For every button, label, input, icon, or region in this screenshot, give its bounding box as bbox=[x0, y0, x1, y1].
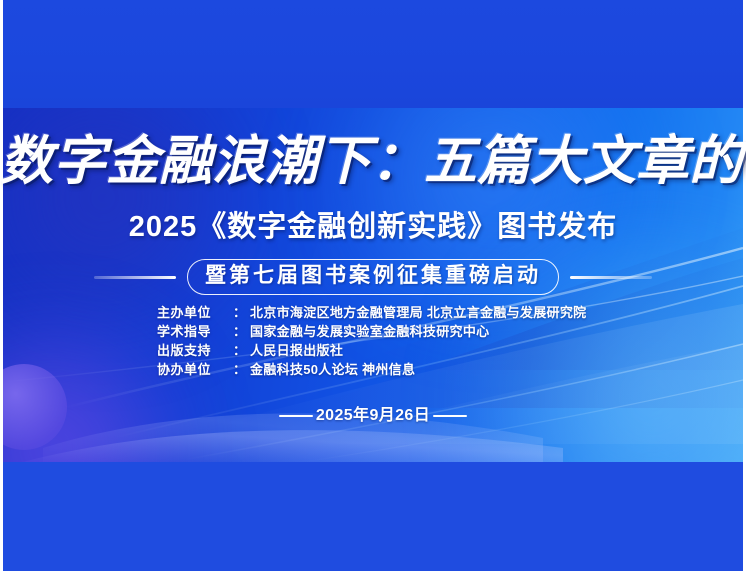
credit-colon: ： bbox=[233, 322, 246, 341]
credit-colon: ： bbox=[233, 303, 246, 322]
credit-row: 协办单位 ： 金融科技50人论坛 神州信息 bbox=[157, 360, 617, 379]
credit-row: 学术指导 ： 国家金融与发展实验室金融科技研究中心 bbox=[157, 322, 617, 341]
credit-label: 出版支持 bbox=[157, 341, 233, 360]
credit-row: 主办单位 ： 北京市海淀区地方金融管理局 北京立言金融与发展研究院 bbox=[157, 303, 617, 322]
credit-colon: ： bbox=[233, 341, 246, 360]
credit-value: 北京市海淀区地方金融管理局 北京立言金融与发展研究院 bbox=[250, 303, 586, 322]
main-title: 数字金融浪潮下：五篇大文章的破局与重构 bbox=[0, 131, 746, 193]
bottom-color-band bbox=[3, 462, 743, 571]
poster-stage: 数字金融浪潮下：五篇大文章的破局与重构 2025《数字金融创新实践》图书发布 暨… bbox=[0, 0, 746, 571]
top-color-band bbox=[3, 0, 743, 108]
badge-row: 暨第七届图书案例征集重磅启动 bbox=[0, 259, 746, 295]
date-row: 2025年9月26日 bbox=[0, 405, 746, 426]
date-rule-left bbox=[279, 415, 313, 417]
date-rule-right bbox=[433, 415, 467, 417]
event-date: 2025年9月26日 bbox=[316, 405, 430, 426]
credits-block: 主办单位 ： 北京市海淀区地方金融管理局 北京立言金融与发展研究院 学术指导 ：… bbox=[157, 303, 617, 379]
badge-rule-left bbox=[94, 276, 176, 279]
credit-label: 协办单位 bbox=[157, 360, 233, 379]
credit-row: 出版支持 ： 人民日报出版社 bbox=[157, 341, 617, 360]
credit-colon: ： bbox=[233, 360, 246, 379]
credit-value: 国家金融与发展实验室金融科技研究中心 bbox=[250, 322, 489, 341]
credit-label: 学术指导 bbox=[157, 322, 233, 341]
sub-title: 2025《数字金融创新实践》图书发布 bbox=[0, 207, 746, 247]
credit-label: 主办单位 bbox=[157, 303, 233, 322]
badge-rule-right bbox=[570, 276, 652, 279]
launch-badge: 暨第七届图书案例征集重磅启动 bbox=[187, 259, 559, 295]
credit-value: 人民日报出版社 bbox=[250, 341, 343, 360]
credit-value: 金融科技50人论坛 神州信息 bbox=[250, 360, 415, 379]
